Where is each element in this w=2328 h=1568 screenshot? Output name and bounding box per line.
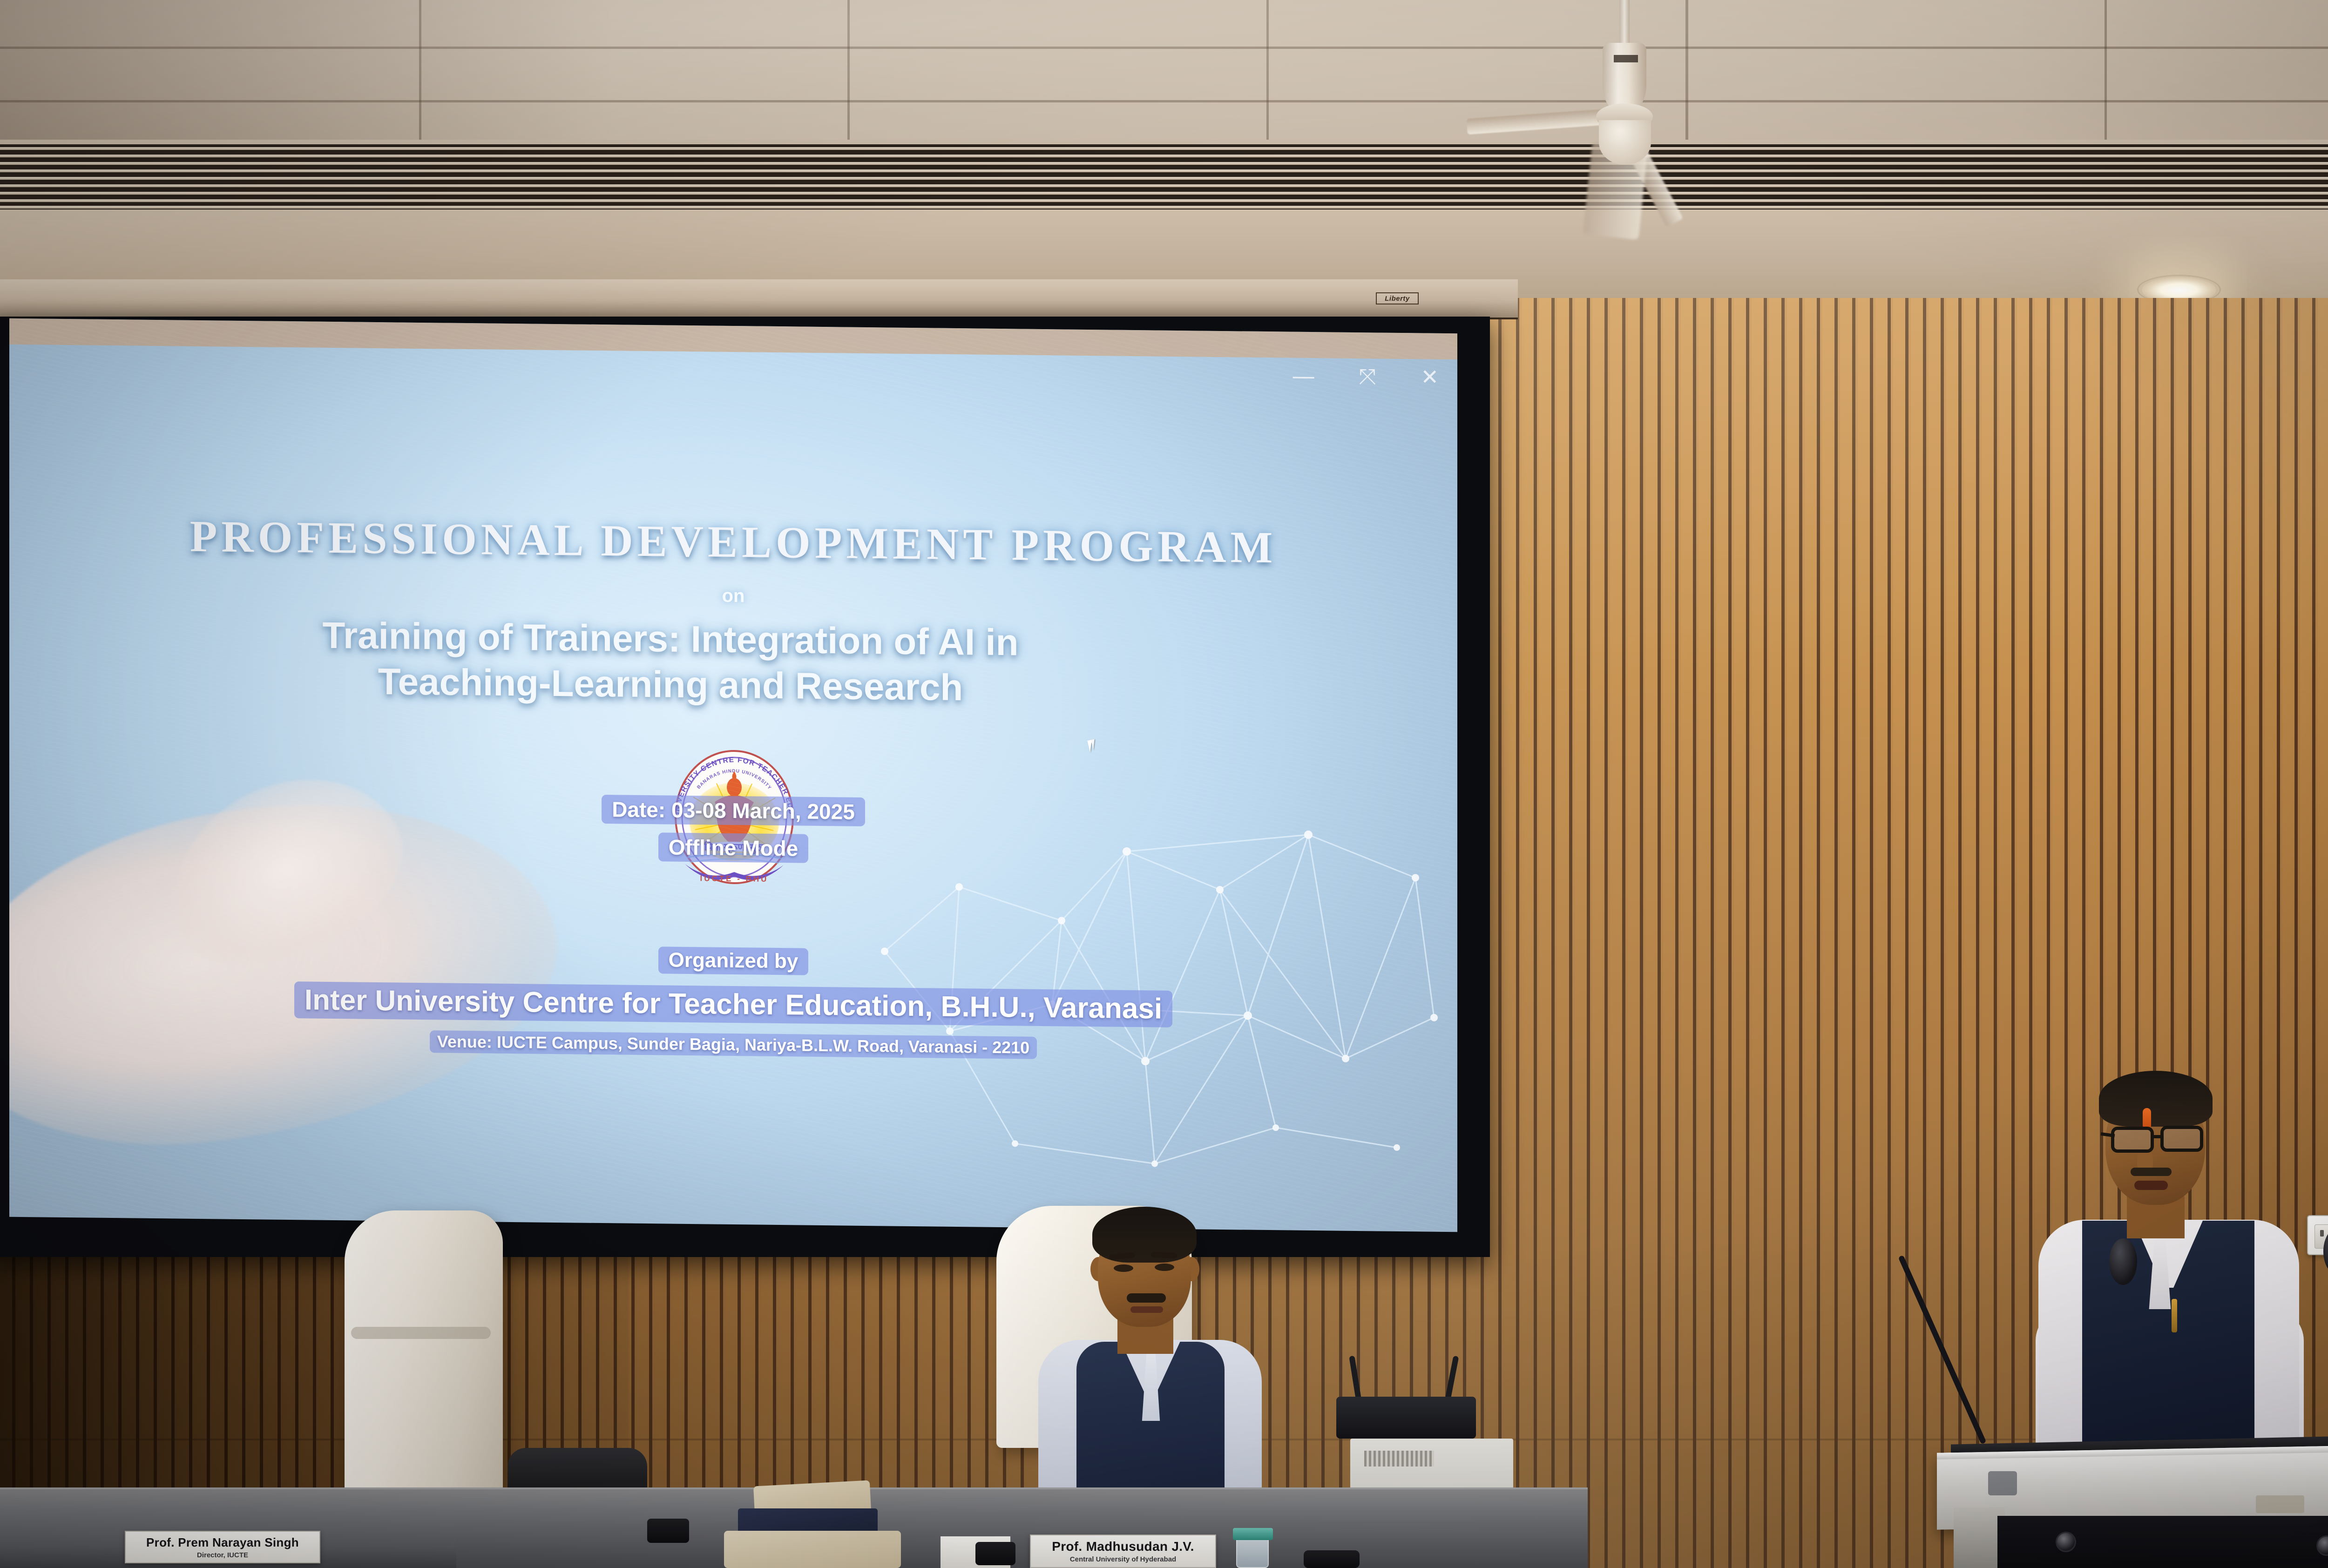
slide-on-label: on	[9, 578, 1457, 615]
nameplate-prem-narayan-singh: Prof. Prem Narayan Singh Director, IUCTE	[125, 1531, 320, 1563]
pocket-pen	[2172, 1299, 2177, 1332]
slide-subtitle-line2: Teaching-Learning and Research	[378, 661, 963, 708]
bottle-cap	[1233, 1528, 1273, 1540]
podium-scuff-mark	[1988, 1471, 2017, 1495]
remote-control[interactable]	[1304, 1550, 1360, 1568]
nameplate-name: Prof. Prem Narayan Singh	[146, 1535, 299, 1550]
slide-title: PROFESSIONAL DEVELOPMENT PROGRAM	[9, 508, 1457, 575]
fan-brand-logo	[1614, 55, 1638, 62]
ceiling-fan	[1481, 0, 1769, 196]
screen-brand-label: Liberty	[1376, 292, 1419, 304]
slide-date-row: Date: 03-08 March, 2025	[9, 789, 1457, 833]
projection-screen[interactable]: INTER UNIVERSITY CENTRE FOR TEACHER EDUC…	[9, 318, 1457, 1232]
slide-mode-row: Offline Mode	[9, 826, 1457, 870]
podium-tape-patch	[2256, 1495, 2304, 1513]
spectacles-left-lens	[2111, 1127, 2154, 1153]
slide-venue: Venue: IUCTE Campus, Sunder Bagia, Nariy…	[430, 1030, 1037, 1059]
nameplate-madhusudan-jv: Prof. Madhusudan J.V. Central University…	[1030, 1534, 1216, 1568]
slide-organized-by-label: Organized by	[658, 946, 809, 975]
projection-screen-housing	[0, 279, 1518, 319]
spectacles-right-lens	[2160, 1126, 2203, 1152]
nameplate-name: Prof. Madhusudan J.V.	[1052, 1539, 1194, 1554]
head-table-front-panel	[456, 1521, 1588, 1568]
wifi-router	[1336, 1397, 1476, 1439]
slide-organizer: Inter University Centre for Teacher Educ…	[294, 981, 1172, 1027]
conference-bag-cloth	[724, 1531, 901, 1568]
water-glass[interactable]	[1236, 1536, 1269, 1568]
gooseneck-microphone-left-head	[2109, 1238, 2137, 1285]
slide-subtitle: Training of Trainers: Integration of AI …	[65, 610, 1276, 713]
podium-front-panel	[1997, 1516, 2328, 1568]
podium-speaker-left	[2056, 1532, 2076, 1552]
conference-hall-photo: IUCTE BHU Wi-Fi Name: IUCTE_Wi-Fi Passwo…	[0, 0, 2328, 1568]
mobile-phone-right[interactable]	[975, 1542, 1015, 1565]
slide-venue-row: Venue: IUCTE Campus, Sunder Bagia, Nariy…	[9, 1026, 1457, 1064]
mobile-phone-left[interactable]	[647, 1519, 689, 1543]
slide-date: Date: 03-08 March, 2025	[602, 795, 865, 826]
slide-mode: Offline Mode	[658, 832, 809, 863]
slide-organizer-row: Inter University Centre for Teacher Educ…	[9, 979, 1457, 1031]
slide-organized-by-row: Organized by	[9, 940, 1457, 982]
nameplate-affiliation: Director, IUCTE	[197, 1551, 248, 1559]
ventilation-grille	[0, 140, 2328, 210]
ups-vent-grille	[1364, 1451, 1434, 1467]
white-covered-chair[interactable]	[345, 1210, 503, 1499]
slide-subtitle-line1: Training of Trainers: Integration of AI …	[323, 615, 1019, 663]
nameplate-affiliation: Central University of Hyderabad	[1070, 1555, 1176, 1563]
